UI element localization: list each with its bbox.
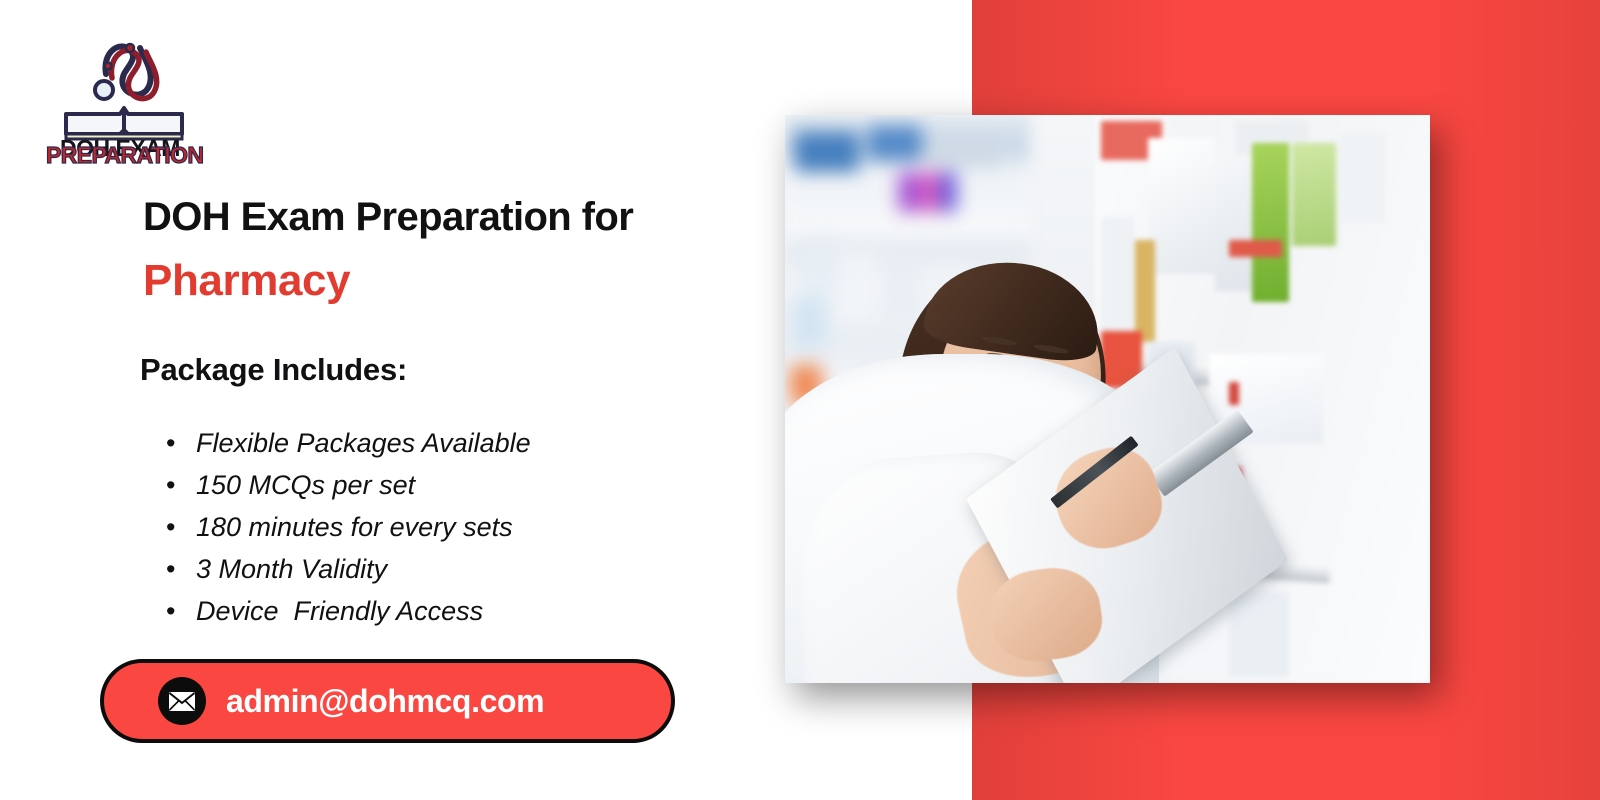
page-title-highlight: Pharmacy [143,259,350,303]
package-includes-list: Flexible Packages Available 150 MCQs per… [160,422,760,632]
list-item: 150 MCQs per set [160,464,760,506]
list-item: 180 minutes for every sets [160,506,760,548]
envelope-icon [158,677,206,725]
package-includes-title: Package Includes: [140,352,407,388]
list-item: Flexible Packages Available [160,422,760,464]
promo-banner: DOH EXAM PREPARATION DOH Exam Preparatio… [0,0,1600,800]
list-item: Device Friendly Access [160,590,760,632]
brand-logo[interactable]: DOH EXAM PREPARATION [44,22,224,162]
logo-artwork: DOH EXAM [44,22,224,162]
email-cta-button[interactable]: admin@dohmcq.com [100,659,675,743]
logo-line2: PREPARATION [46,142,203,169]
pharmacist-photo [785,115,1430,683]
pharmacist-figure [785,115,1430,683]
email-address: admin@dohmcq.com [226,683,544,720]
page-title: DOH Exam Preparation for [143,197,783,237]
envelope-glyph [168,691,196,712]
list-item: 3 Month Validity [160,548,760,590]
